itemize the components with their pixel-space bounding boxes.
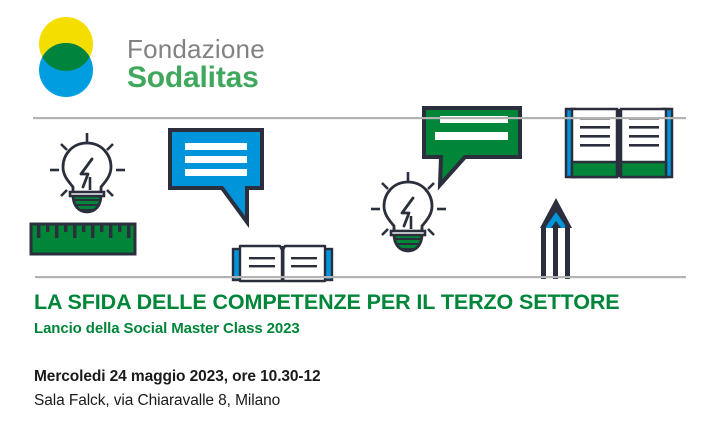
- event-datetime: Mercoledi 24 maggio 2023, ore 10.30-12: [34, 368, 694, 387]
- page-title: LA SFIDA DELLE COMPETENZE PER IL TERZO S…: [34, 290, 694, 315]
- ruler-icon: [31, 224, 135, 254]
- brand-wordmark-line-1: Fondazione: [127, 36, 265, 62]
- lightbulb-icon: [50, 133, 125, 212]
- event-slide: Fondazione Sodalitas: [0, 0, 719, 422]
- brand-logo[interactable]: Fondazione Sodalitas: [30, 16, 280, 102]
- speech-bubble-blue-icon: [170, 130, 262, 222]
- brand-wordmark: Fondazione Sodalitas: [127, 36, 265, 93]
- pencil-icon: [540, 198, 572, 279]
- lightbulb-icon: [371, 172, 446, 251]
- event-location: Sala Falck, via Chiaravalle 8, Milano: [34, 392, 694, 411]
- open-book-small-icon: [233, 246, 332, 281]
- two-overlapping-circles-icon: [30, 16, 102, 98]
- illustration-band: [0, 100, 719, 285]
- speech-bubble-green-icon: [424, 108, 520, 185]
- event-text-block: LA SFIDA DELLE COMPETENZE PER IL TERZO S…: [34, 290, 694, 411]
- bottom-divider-rule: [35, 276, 686, 278]
- page-subtitle: Lancio della Social Master Class 2023: [34, 320, 694, 338]
- brand-wordmark-line-2: Sodalitas: [127, 63, 265, 93]
- top-divider-rule: [33, 117, 686, 119]
